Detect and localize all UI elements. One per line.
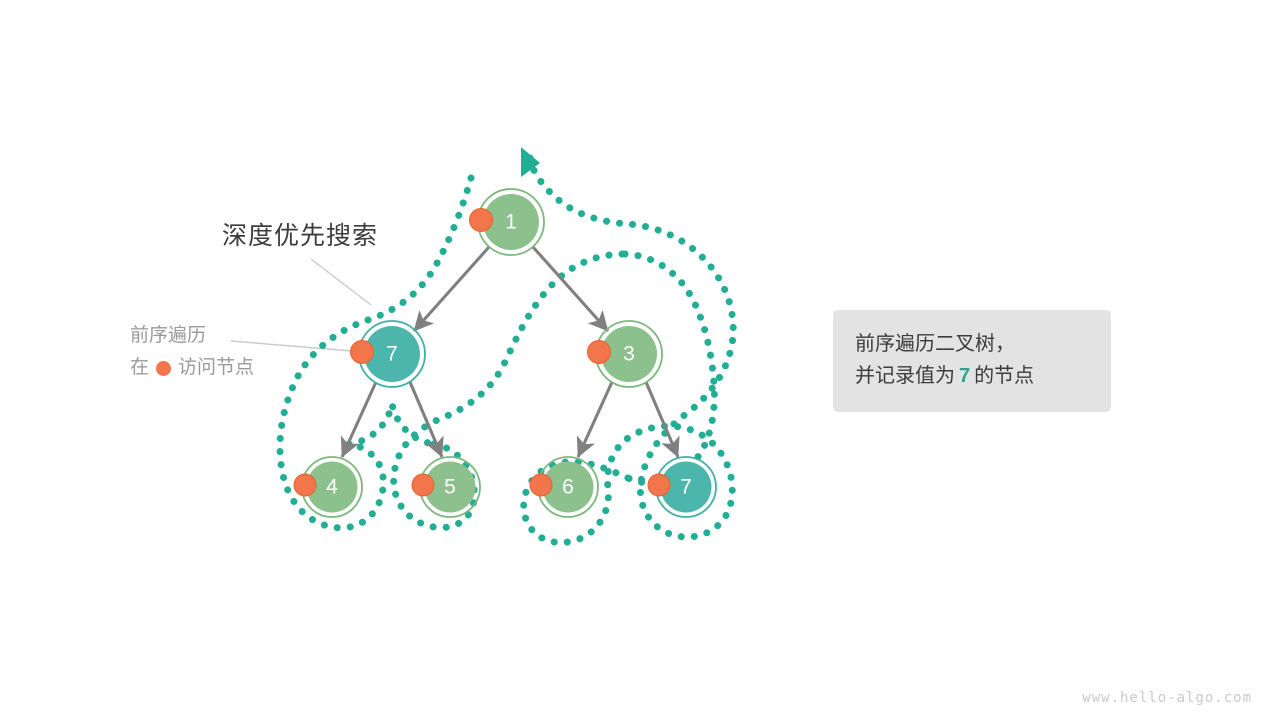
tree-node-label: 7 [680, 476, 692, 499]
tree-node-6[interactable]: 6 [530, 457, 598, 517]
tree-node-7-left[interactable]: 7 [351, 321, 426, 387]
tree-node-3[interactable]: 3 [588, 321, 663, 387]
legend-suffix: 访问节点 [178, 354, 254, 382]
legend-line-1: 前序遍历 [130, 322, 254, 350]
edge-3-7b [646, 382, 678, 457]
tree-node-label: 5 [444, 476, 456, 499]
tree-node-label: 6 [562, 476, 574, 499]
visit-dot-icon [648, 474, 670, 496]
visit-dot-icon [294, 474, 316, 496]
tree-node-4[interactable]: 4 [294, 457, 362, 517]
visit-dot-icon [530, 474, 552, 496]
tree-node-label: 7 [386, 343, 398, 366]
callout-line-2-suffix: 的节点 [974, 365, 1034, 387]
orange-dot-icon [156, 361, 171, 376]
visit-dot-icon [470, 209, 493, 232]
tree-node-label: 3 [623, 343, 635, 366]
path-start-arrowhead-icon [521, 147, 540, 177]
tree-node-label: 4 [326, 476, 338, 499]
watermark: www.hello-algo.com [1082, 690, 1252, 706]
legend-prefix: 在 [130, 354, 149, 382]
visit-dot-icon [588, 341, 611, 364]
callout-line-2-prefix: 并记录值为 [855, 365, 955, 387]
edge-1-7a [414, 247, 489, 331]
visit-dot-icon [351, 341, 374, 364]
edge-3-6 [578, 382, 612, 457]
callout-highlight-value: 7 [955, 365, 974, 387]
callout-line-1: 前序遍历二叉树， [855, 328, 1089, 360]
legend: 前序遍历 在 访问节点 [130, 322, 254, 382]
tree-node-7-right[interactable]: 7 [648, 457, 716, 517]
callout-box: 前序遍历二叉树， 并记录值为7的节点 [833, 310, 1111, 412]
tree-node-5[interactable]: 5 [412, 457, 480, 517]
tree-node-label: 1 [505, 211, 517, 234]
diagram-title: 深度优先搜索 [222, 216, 378, 252]
visit-dot-icon [412, 474, 434, 496]
tree-node-1[interactable]: 1 [470, 189, 545, 255]
callout-line-2: 并记录值为7的节点 [855, 360, 1089, 392]
